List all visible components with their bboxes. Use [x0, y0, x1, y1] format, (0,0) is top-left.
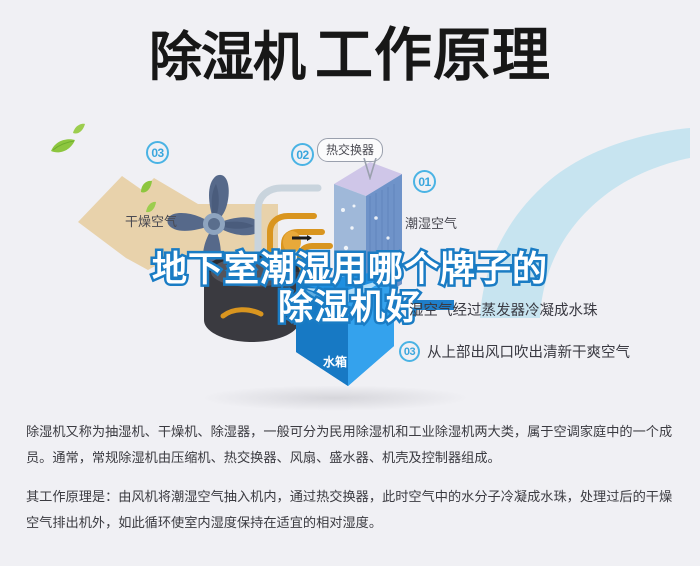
badge-step-03-note: 03 [399, 341, 420, 362]
dry-air-label: 干燥空气 [125, 211, 177, 230]
leaf-icon [139, 179, 153, 198]
humid-air-label: 潮湿空气 [405, 213, 457, 232]
page-title-part-b: 工作原理 [315, 21, 551, 89]
body-copy: 除湿机又称为抽湿机、干燥机、除湿器，一般可分为民用除湿机和工业除湿机两大类，属于… [26, 420, 678, 537]
heat-exchanger-label: 热交换器 [326, 143, 374, 157]
step-note-03-text: 从上部出风口吹出清新干爽空气 [427, 341, 630, 362]
badge-step-03: 03 [146, 141, 169, 164]
overlay-headline-line-1: 地下室潮湿用哪个牌子的 [0, 252, 700, 290]
machine-shadow [200, 385, 470, 411]
page-title-part-a: 除湿机 [149, 27, 305, 88]
water-tank-label: 水箱 [323, 353, 347, 370]
badge-step-01: 01 [413, 170, 436, 193]
page-title: 除湿机工作原理 [0, 26, 700, 84]
body-paragraph-2: 其工作原理是：由风机将潮湿空气抽入机内，通过热交换器，此时空气中的水分子冷凝成水… [26, 485, 678, 536]
body-paragraph-1: 除湿机又称为抽湿机、干燥机、除湿器，一般可分为民用除湿机和工业除湿机两大类，属于… [26, 420, 678, 471]
callout-pointer-icon [362, 158, 378, 180]
step-note-02: 湿空气经过蒸发器冷凝成水珠 [409, 299, 598, 320]
step-note-03: 03 从上部出风口吹出清新干爽空气 [399, 341, 630, 362]
leaf-icon [50, 138, 76, 158]
badge-step-02: 02 [291, 143, 314, 166]
leaf-icon [72, 120, 86, 139]
